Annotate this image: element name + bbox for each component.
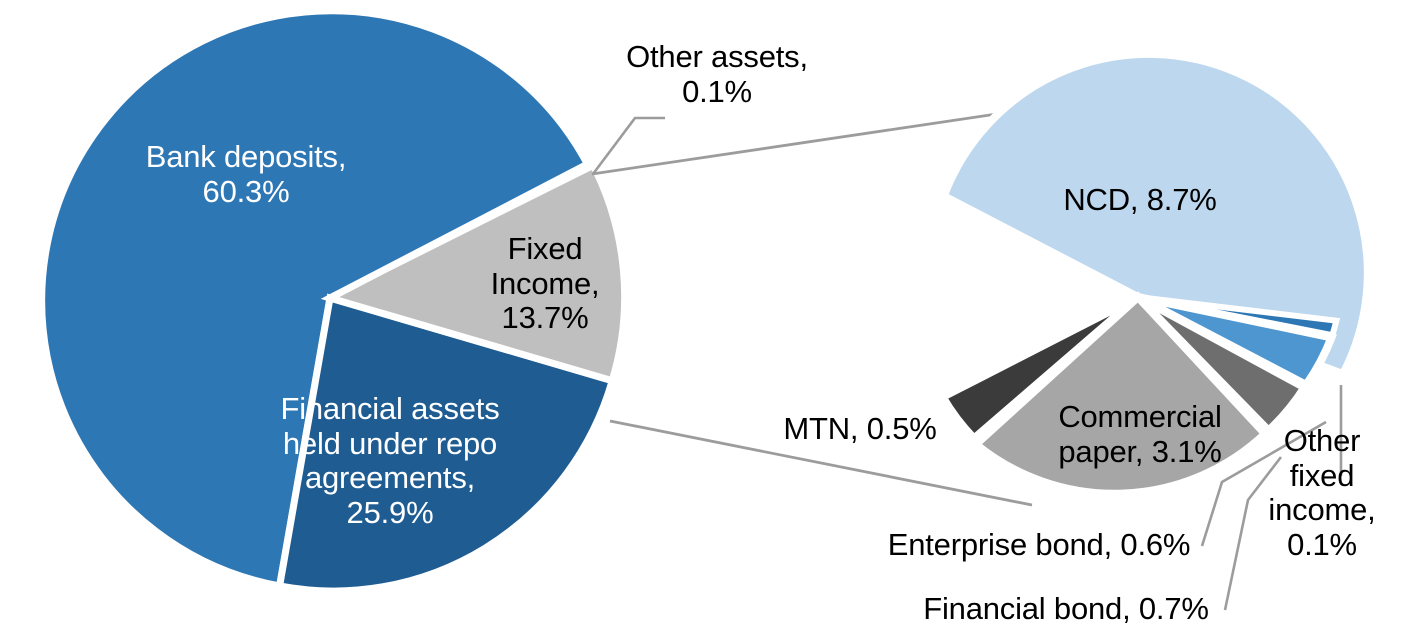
label-enterprise-bond: Enterprise bond, 0.6% (858, 528, 1220, 563)
label-commercial-paper: Commercial paper, 3.1% (1032, 400, 1248, 469)
label-financial-bond: Financial bond, 0.7% (890, 592, 1242, 627)
label-bank-deposits: Bank deposits, 60.3% (98, 140, 394, 209)
label-other-fixed-income: Other fixed income, 0.1% (1254, 424, 1390, 563)
pie-of-pie-chart: Bank deposits, 60.3% Financial assets he… (0, 0, 1404, 644)
label-mtn: MTN, 0.5% (760, 412, 960, 447)
label-fixed-income: Fixed Income, 13.7% (470, 232, 620, 336)
label-other-assets: Other assets, 0.1% (592, 40, 842, 109)
label-ncd: NCD, 8.7% (1025, 183, 1255, 218)
label-repo-agreements: Financial assets held under repo agreeme… (245, 392, 535, 531)
